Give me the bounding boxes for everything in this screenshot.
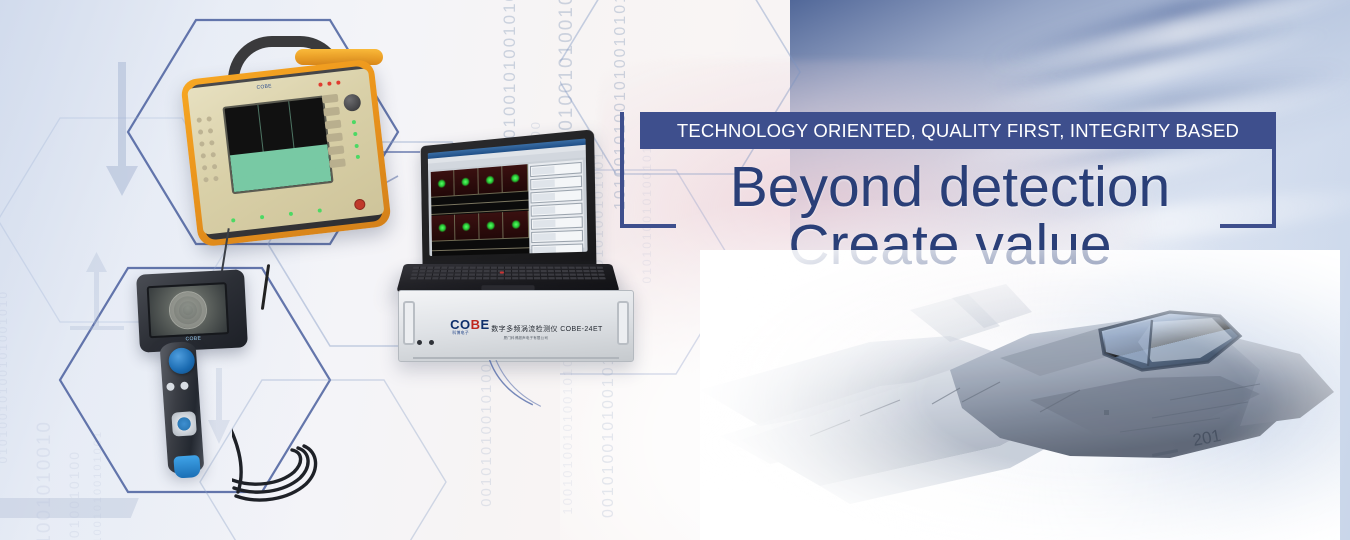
bracket-left-foot	[620, 224, 676, 228]
laptop-screen	[428, 138, 588, 256]
detector-rotary-knob[interactable]	[343, 93, 362, 112]
rack-model-label: 数字多频涡流检测仪 COBE-24ET	[491, 324, 602, 334]
fighter-jet-image: 201	[700, 250, 1340, 540]
tagline-bar: TECHNOLOGY ORIENTED, QUALITY FIRST, INTE…	[640, 112, 1276, 149]
industrial-videoscope: COBE	[120, 272, 320, 502]
videoscope-screen	[147, 282, 230, 338]
detector-screen	[222, 95, 333, 194]
laptop-lid	[421, 129, 597, 271]
rack-company-label: 厦门科博超声电子有限公司	[504, 336, 548, 341]
videoscope-insertion-cable	[232, 412, 324, 502]
laptop-keyboard[interactable]	[410, 267, 606, 281]
detector-brand-mark: COBE	[256, 84, 272, 92]
tagline-text: TECHNOLOGY ORIENTED, QUALITY FIRST, INTE…	[677, 120, 1239, 142]
headline: Beyond detection Create value	[700, 158, 1200, 274]
detector-body: COBE	[180, 59, 392, 248]
bracket-right-foot	[1220, 224, 1276, 228]
rack-connection-cable	[486, 360, 546, 408]
handheld-flaw-detector: COBE	[186, 36, 386, 251]
videoscope-dpad[interactable]	[171, 411, 197, 437]
headline-line-2: Create value	[700, 216, 1200, 274]
bracket-right-vertical	[1272, 149, 1276, 228]
videoscope-brand-mark: COBE	[185, 336, 201, 343]
videoscope-head: COBE	[136, 269, 248, 353]
bracket-left-vertical	[620, 112, 624, 228]
up-arrow-icon	[70, 252, 124, 330]
eddy-signal-plots	[431, 164, 530, 252]
eddy-current-rack-unit: COBE 科博电子 数字多频涡流检测仪 COBE-24ET 厦门科博超声电子有限…	[398, 290, 634, 362]
rack-brand-subtitle: 科博电子	[452, 330, 469, 336]
laptop-base	[396, 264, 620, 293]
videoscope-joystick[interactable]	[168, 347, 196, 375]
down-arrow-icon	[106, 62, 138, 196]
videoscope-grip	[159, 341, 204, 475]
eddy-channel-panel[interactable]	[529, 160, 584, 250]
eddy-current-test-system: COBE 科博电子 数字多频涡流检测仪 COBE-24ET 厦门科博超声电子有限…	[398, 138, 648, 366]
headline-line-1: Beyond detection	[700, 158, 1200, 216]
detector-power-button[interactable]	[353, 198, 365, 210]
videoscope-end-cap	[173, 455, 200, 479]
hero-banner: 01010010100101001010 1001010100101001010…	[0, 0, 1350, 540]
